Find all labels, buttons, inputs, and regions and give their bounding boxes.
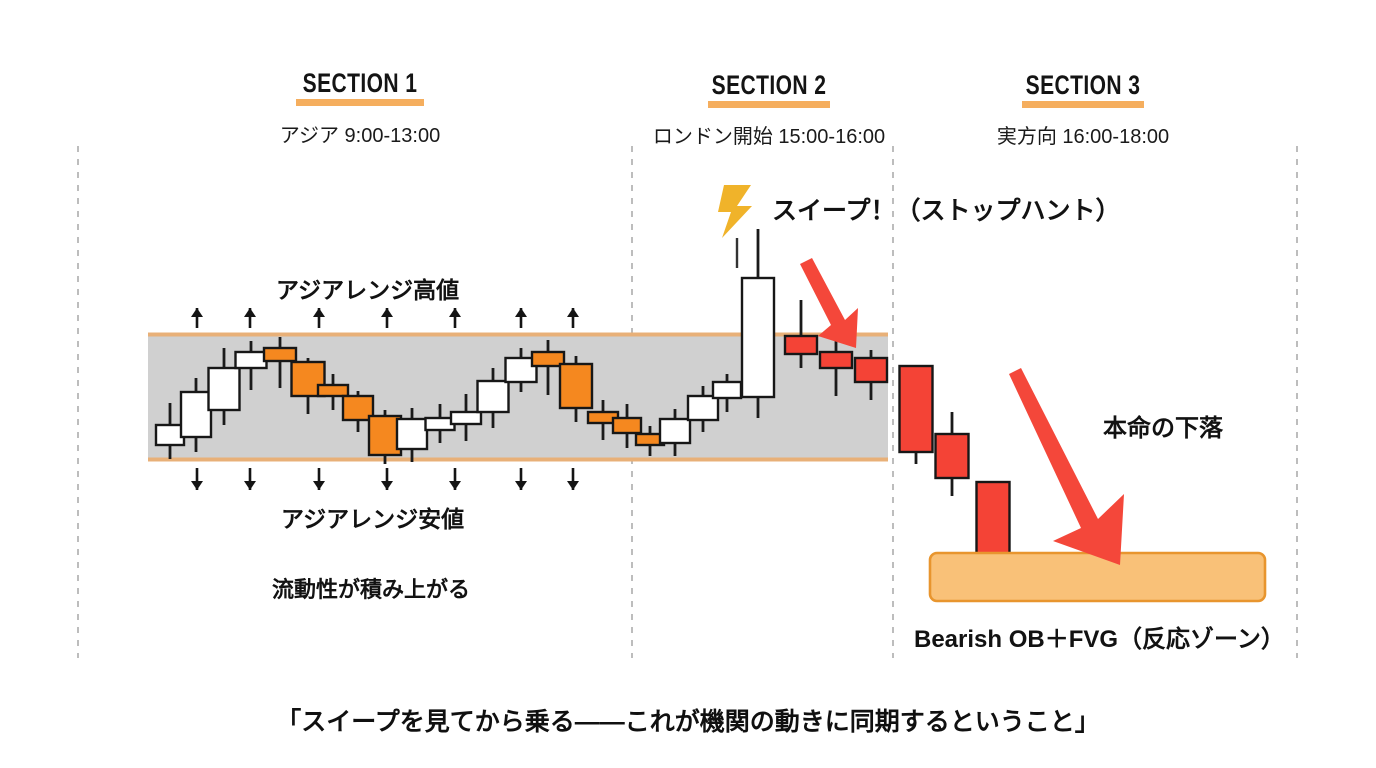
section-2-underline: [708, 101, 830, 108]
range-high-label: アジアレンジ高値: [276, 271, 459, 305]
candle-22: [742, 229, 774, 418]
main-drop-label: 本命の下落: [1103, 408, 1223, 443]
arrow-up-icon-1: [244, 308, 256, 328]
arrow-up-icon-0: [191, 308, 203, 328]
order-block-zone: [930, 553, 1265, 601]
arrow-down-icon-3: [381, 468, 393, 490]
section-1-header: SECTION 1: [260, 68, 460, 99]
arrow-up-icon-6: [567, 308, 579, 328]
bottom-caption: 「スイープを見てから乗る――これが機関の動きに同期するということ」: [276, 702, 1100, 738]
section-3-underline: [1022, 101, 1144, 108]
arrow-up-icon-5: [515, 308, 527, 328]
section-1-subtitle: アジア 9:00-13:00: [260, 119, 460, 148]
section-2-subtitle: ロンドン開始 15:00-16:00: [619, 120, 919, 149]
section-1-underline: [296, 99, 424, 106]
arrow-down-icon-0: [191, 468, 203, 490]
sweep-label: スイープ！（ストップハント）: [772, 191, 1121, 227]
large-red-arrow-down-icon: [1009, 368, 1124, 565]
range-low-label: アジアレンジ安値: [281, 500, 464, 534]
section-3-subtitle: 実方向 16:00-18:00: [963, 120, 1203, 149]
arrow-up-icon-2: [313, 308, 325, 328]
diagram-canvas: SECTION 1 アジア 9:00-13:00 SECTION 2 ロンドン開…: [0, 0, 1376, 768]
section-1-title: SECTION 1: [282, 68, 438, 99]
section-2-header: SECTION 2: [669, 70, 869, 101]
arrow-down-icon-6: [567, 468, 579, 490]
ob-zone-label: Bearish OB＋FVG（反応ゾーン）: [914, 619, 1285, 654]
arrow-up-icon-3: [381, 308, 393, 328]
candle-27: [936, 412, 969, 496]
candle-26: [900, 366, 933, 464]
arrow-down-icon-4: [449, 468, 461, 490]
lightning-bolt-icon: [718, 185, 752, 268]
liquidity-label: 流動性が積み上がる: [272, 572, 470, 604]
section-2-title: SECTION 2: [691, 70, 847, 101]
section-3-header: SECTION 3: [983, 70, 1183, 101]
arrow-down-icon-5: [515, 468, 527, 490]
arrow-up-icon-4: [449, 308, 461, 328]
arrow-down-icon-1: [244, 468, 256, 490]
section-3-title: SECTION 3: [1005, 70, 1161, 101]
arrow-down-icon-2: [313, 468, 325, 490]
